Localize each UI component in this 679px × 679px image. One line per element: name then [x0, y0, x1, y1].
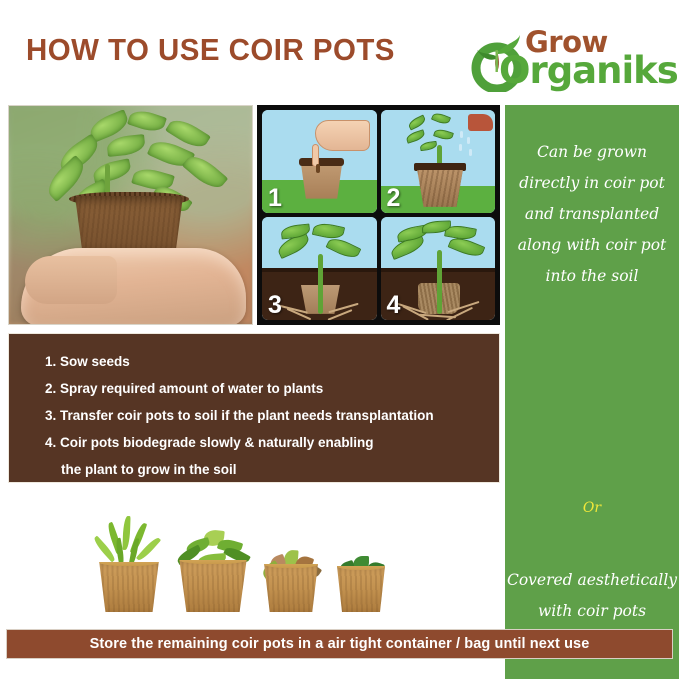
logo-word-organiks: Organiks — [499, 49, 678, 92]
coir-pot — [178, 560, 248, 612]
coir-pots-photo-row — [8, 487, 500, 620]
empty-pot-icon — [301, 164, 342, 199]
step-number: 4 — [387, 293, 401, 318]
instruction-item-4: 4. Coir pots biodegrade slowly & natural… — [9, 429, 499, 456]
green-info-panel: Can be grown directly in coir pot and tr… — [505, 105, 679, 679]
step-number: 1 — [268, 186, 282, 211]
plant-foliage — [390, 221, 486, 270]
infographic-poster: HOW TO USE COIR POTS Grow Organiks — [0, 0, 679, 679]
seed-icon — [316, 164, 320, 173]
green-panel-text-block-2: Covered aesthetically with coir pots — [505, 565, 679, 627]
step-panel-4: 4 — [381, 217, 496, 320]
page-title: HOW TO USE COIR POTS — [26, 32, 395, 68]
coir-pot-with-rootball-icon — [417, 170, 463, 207]
step-number: 3 — [268, 293, 282, 318]
plant-foliage — [271, 221, 367, 270]
step-number: 2 — [387, 186, 401, 211]
step-illustrations: 1 2 — [257, 105, 500, 325]
watering-can-icon — [468, 114, 493, 130]
instruction-item-2: 2. Spray required amount of water to pla… — [9, 375, 499, 402]
header: HOW TO USE COIR POTS Grow Organiks — [0, 0, 679, 104]
hand-fingers — [25, 256, 117, 304]
hand-sowing-seed-icon — [315, 120, 370, 151]
hand-holding-coir-pot-photo — [8, 105, 253, 325]
step-panel-1: 1 — [262, 110, 377, 213]
green-panel-text-block-1: Can be grown directly in coir pot and tr… — [505, 137, 679, 292]
coir-pot — [263, 564, 319, 612]
storage-banner: Store the remaining coir pots in a air t… — [6, 629, 673, 659]
storage-banner-text: Store the remaining coir pots in a air t… — [90, 636, 590, 652]
coir-pot — [98, 562, 160, 612]
potted-plant-2 — [178, 560, 248, 612]
potted-plant-1 — [98, 562, 160, 612]
instruction-item-3: 3. Transfer coir pots to soil if the pla… — [9, 402, 499, 429]
brand-logo: Grow Organiks — [467, 18, 667, 94]
step-panel-3: 3 — [262, 217, 377, 320]
pot-soil — [299, 158, 345, 165]
green-panel-connector: Or — [505, 500, 679, 516]
potted-plant-3 — [263, 564, 319, 612]
pot-rim — [414, 163, 467, 171]
instruction-item-4-continuation: the plant to grow in the soil — [9, 456, 499, 483]
step-panel-2: 2 — [381, 110, 496, 213]
instructions-box: 1. Sow seeds 2. Spray required amount of… — [8, 333, 500, 483]
instruction-item-1: 1. Sow seeds — [9, 348, 499, 375]
potted-plant-4 — [336, 566, 386, 612]
coir-pot — [336, 566, 386, 612]
